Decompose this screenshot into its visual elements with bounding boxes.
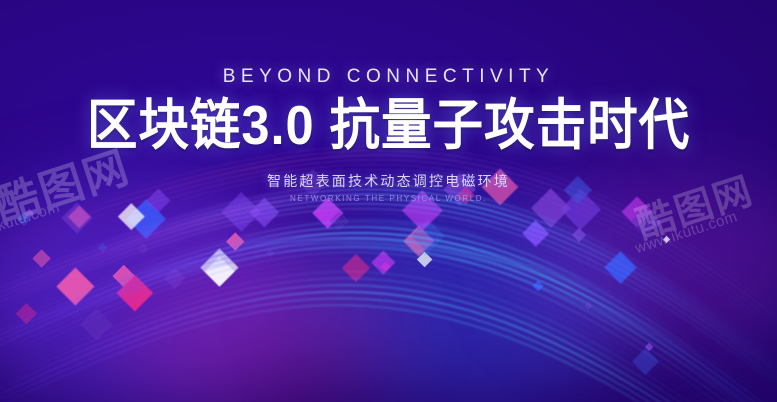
page-title: 区块链3.0 抗量子攻击时代: [31, 97, 746, 153]
subtitle-english: NETWORKING THE PHYSICAL WORLD.: [0, 194, 777, 203]
subtitle-chinese: 智能超表面技术动态调控电磁环境: [0, 171, 777, 191]
text-block: BEYOND CONNECTIVITY 区块链3.0 抗量子攻击时代 智能超表面…: [0, 0, 777, 203]
kicker-text: BEYOND CONNECTIVITY: [0, 66, 777, 88]
wave-line: [0, 213, 777, 400]
poster-canvas: BEYOND CONNECTIVITY 区块链3.0 抗量子攻击时代 智能超表面…: [0, 0, 777, 402]
wave-line: [0, 208, 777, 394]
wave-line: [0, 179, 777, 357]
wave-line: [0, 185, 777, 367]
wave-line: [0, 190, 777, 373]
